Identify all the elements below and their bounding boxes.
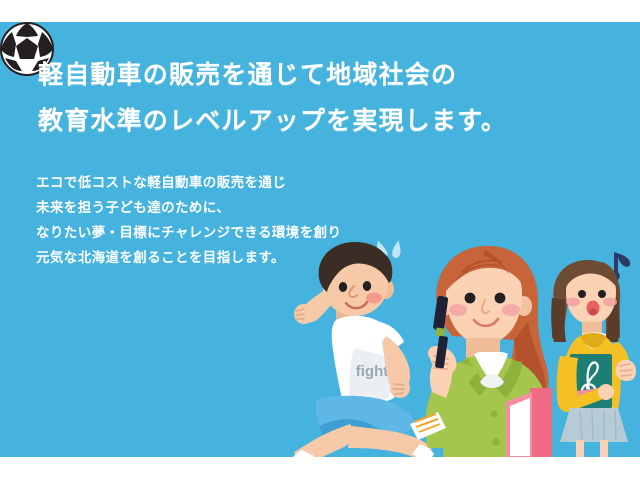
body-line-2: 未来を担う子ども達のために、 bbox=[36, 195, 341, 220]
blue-banner-background: fight bbox=[0, 22, 640, 457]
headline-line-2: 教育水準のレベルアップを実現します。 bbox=[38, 98, 478, 144]
figure-woman bbox=[408, 240, 554, 457]
pen-icon bbox=[422, 294, 456, 372]
body-copy-block: エコで低コストな軽自動車の販売を通じ 未来を担う子ども達のために、 なりたい夢・… bbox=[36, 170, 341, 270]
girl-waving-hand bbox=[612, 356, 640, 384]
body-line-3: なりたい夢・目標にチャレンジできる環境を創り bbox=[36, 220, 341, 245]
banner-image: fight bbox=[0, 0, 640, 480]
girl-right-leg bbox=[600, 440, 608, 457]
body-line-4: 元気な北海道を創ることを目指します。 bbox=[36, 245, 341, 270]
figure-girl bbox=[546, 248, 640, 457]
headline-line-1: 軽自動車の販売を通じて地域社会の bbox=[38, 52, 478, 98]
woman-paper bbox=[408, 406, 454, 448]
girl-skirt bbox=[558, 406, 630, 446]
body-line-1: エコで低コストな軽自動車の販売を通じ bbox=[36, 170, 341, 195]
headline-block: 軽自動車の販売を通じて地域社会の 教育水準のレベルアップを実現します。 bbox=[38, 52, 478, 144]
girl-left-leg bbox=[576, 440, 584, 457]
